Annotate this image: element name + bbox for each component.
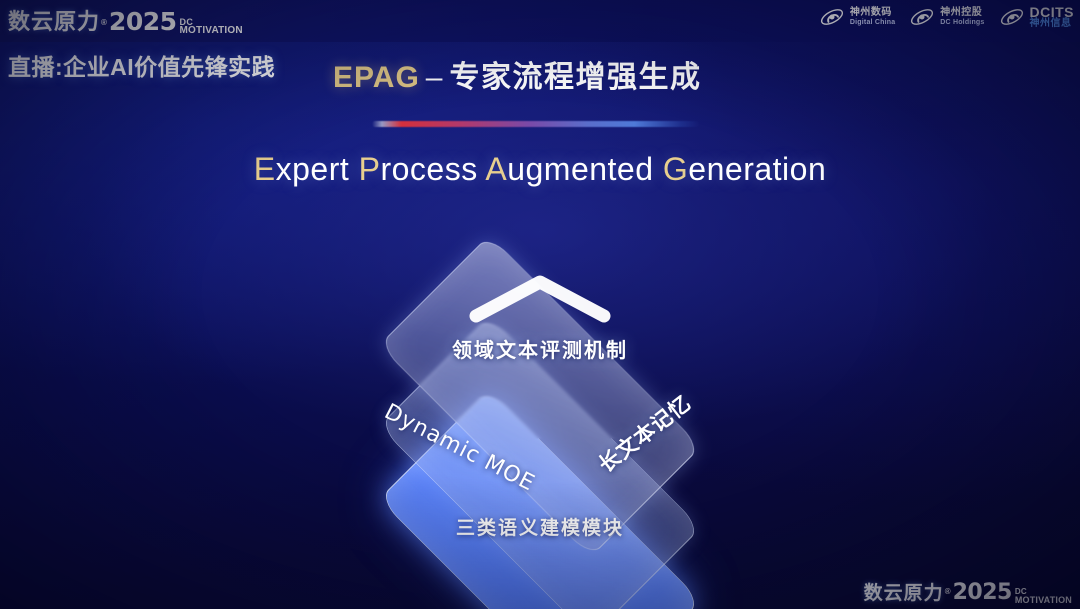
brand-dc-motivation: DC MOTIVATION — [1015, 588, 1072, 604]
brand-motivation-label: MOTIVATION — [1015, 596, 1072, 604]
chevron-up-icon — [468, 272, 612, 324]
brand-logo-watermark: 数云原力 ® 2025 DC MOTIVATION — [864, 578, 1072, 605]
diagram-label-top: 领域文本评测机制 — [0, 334, 1080, 363]
diagram-label-bottom: 三类语义建模模块 — [0, 513, 1080, 540]
brand-registered-mark: ® — [945, 587, 951, 596]
brand-year: 2025 — [953, 580, 1012, 605]
layered-architecture-diagram: 领域文本评测机制 Dynamic MOE 长文本记忆 三类语义建模模块 — [0, 0, 1080, 609]
brand-name-cn: 数云原力 — [864, 578, 944, 605]
slide-canvas: 数云原力 ® 2025 DC MOTIVATION 直播:企业AI价值先锋实践 … — [0, 0, 1080, 609]
